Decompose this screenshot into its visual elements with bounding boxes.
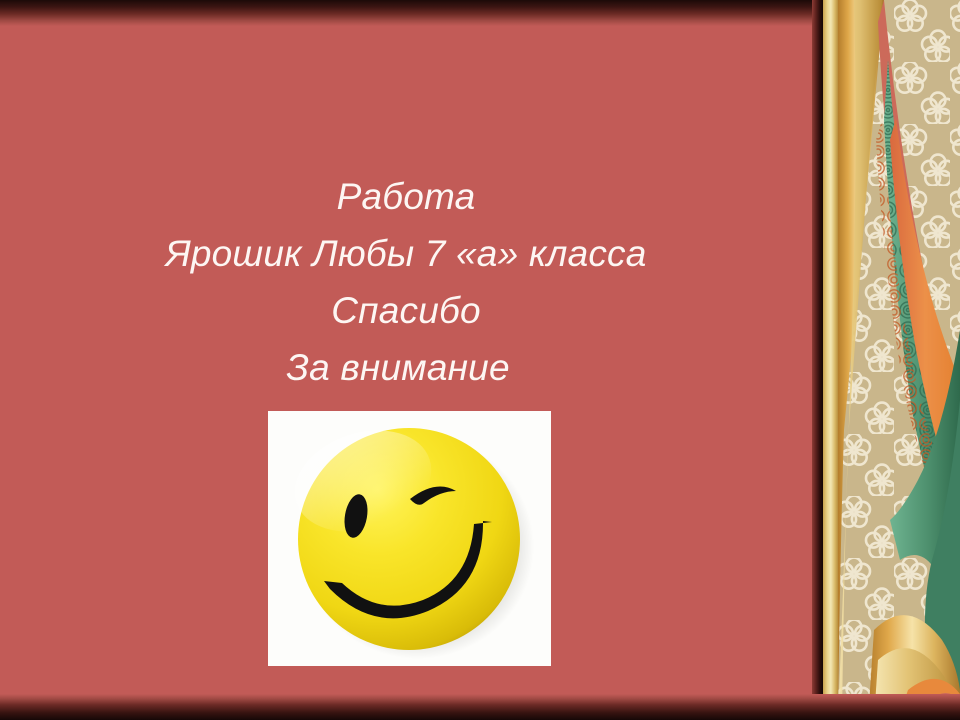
border-gold-band: [823, 0, 838, 720]
border-dark-edge: [812, 0, 823, 720]
border-floral-panel: [838, 0, 960, 720]
slide-content-area: Работа Ярошик Любы 7 «а» класса Спасибо …: [0, 0, 812, 720]
slide-text-line-2: Ярошик Любы 7 «а» класса: [0, 225, 812, 282]
slide-text-line-4: За внимание: [0, 339, 804, 396]
winking-smiley-face-image: [268, 411, 551, 666]
slide-text-line-1: Работа: [0, 168, 812, 225]
slide-text-line-3: Спасибо: [0, 282, 812, 339]
slide-text-block: Работа Ярошик Любы 7 «а» класса Спасибо …: [0, 168, 812, 396]
right-ribbon-border: [812, 0, 960, 720]
presentation-slide: Работа Ярошик Любы 7 «а» класса Спасибо …: [0, 0, 960, 720]
